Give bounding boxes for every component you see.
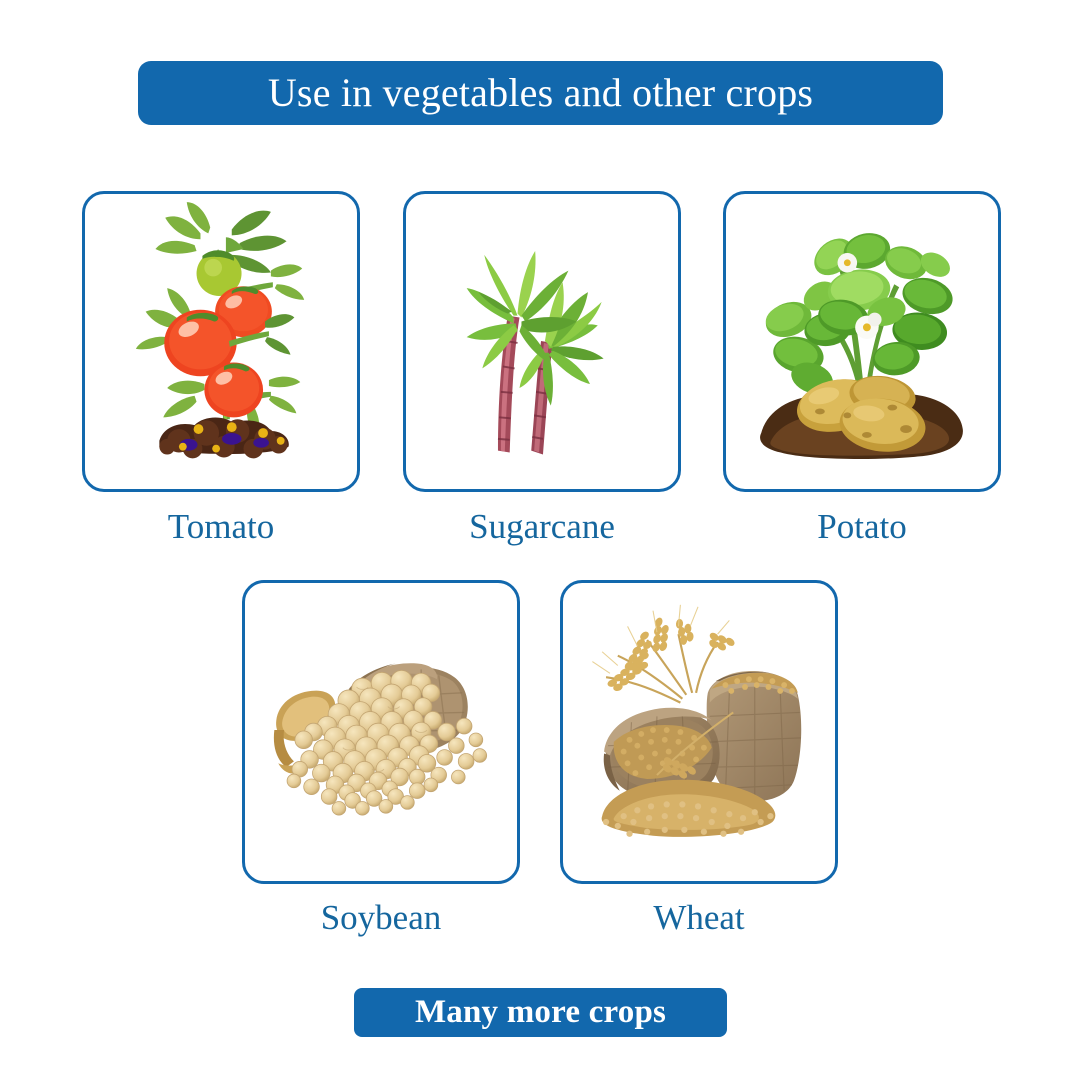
crop-card-wheat[interactable] (560, 580, 838, 884)
crop-label-potato: Potato (723, 509, 1001, 544)
wheat-sack-icon (563, 583, 835, 881)
crop-card-soybean[interactable] (242, 580, 520, 884)
potato-plant-icon (726, 194, 998, 489)
crop-label-sugarcane: Sugarcane (403, 509, 681, 544)
crop-card-sugarcane[interactable] (403, 191, 681, 492)
crop-label-tomato: Tomato (82, 509, 360, 544)
header-banner: Use in vegetables and other crops (138, 61, 943, 125)
sugarcane-stalks-icon (406, 194, 678, 489)
header-title: Use in vegetables and other crops (268, 73, 813, 113)
soybean-sack-icon (245, 583, 517, 881)
crop-label-soybean: Soybean (242, 900, 520, 935)
crop-label-wheat: Wheat (560, 900, 838, 935)
crop-card-potato[interactable] (723, 191, 1001, 492)
crop-card-tomato[interactable] (82, 191, 360, 492)
footer-title: Many more crops (415, 996, 666, 1029)
footer-banner: Many more crops (354, 988, 727, 1037)
crops-infographic: Use in vegetables and other crops (0, 0, 1080, 1080)
tomato-plant-icon (85, 194, 357, 489)
